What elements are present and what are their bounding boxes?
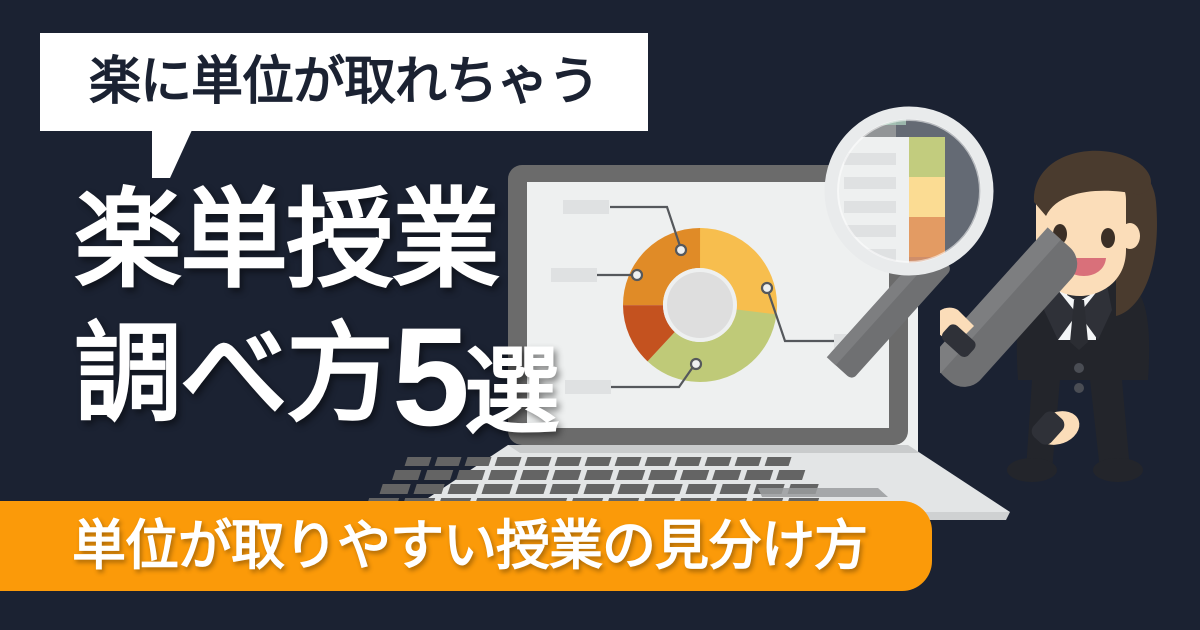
- speech-bubble-text: 楽に単位が取れちゃう: [89, 56, 599, 108]
- speech-bubble: 楽に単位が取れちゃう: [40, 33, 648, 131]
- headline-line-1: 楽単授業: [74, 186, 558, 294]
- chart-callout-label-2: [551, 268, 597, 282]
- page-title: 楽単授業 調べ方5選: [74, 186, 558, 441]
- chart-callout-label-4: [565, 380, 611, 394]
- subtitle-banner-text: 単位が取りやすい授業の見分け方: [72, 519, 867, 573]
- magnifying-glass: [806, 95, 1026, 395]
- subtitle-banner: 単位が取りやすい授業の見分け方: [0, 501, 932, 591]
- laptop-trackpad: [758, 488, 888, 497]
- headline-line-2-prefix: 調べ方: [74, 313, 392, 434]
- chart-callout-label-1: [563, 200, 609, 214]
- headline-line-2-suffix: 選: [464, 339, 558, 446]
- headline-count: 5: [392, 298, 464, 455]
- headline-line-2: 調べ方5選: [74, 320, 558, 441]
- speech-bubble-tail: [152, 130, 192, 178]
- promo-banner-image: 楽に単位が取れちゃう 楽単授業 調べ方5選 単位が取りやすい授業の見分け方: [0, 0, 1200, 630]
